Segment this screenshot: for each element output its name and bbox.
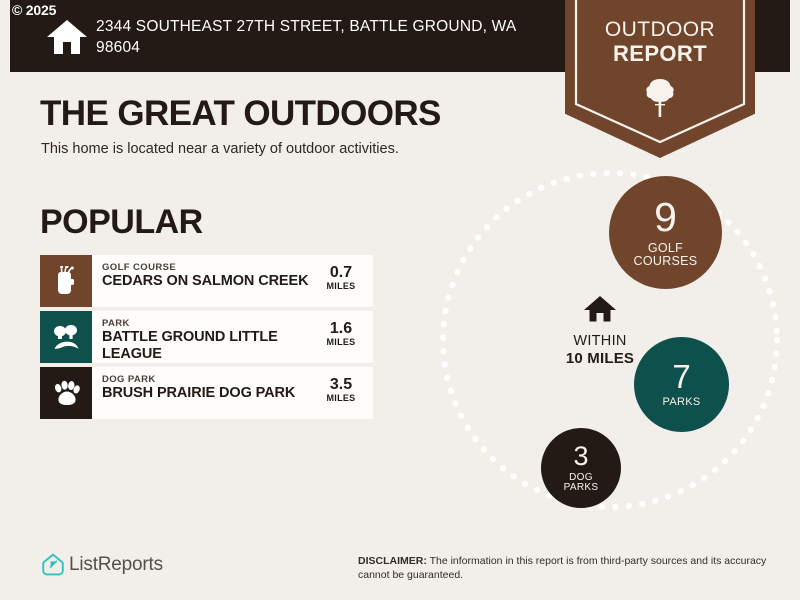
list-item-distance-value: 0.7 [315,264,367,281]
diagram-center-line2: 10 MILES [530,350,670,368]
badge-title-line1: OUTDOOR [565,18,755,42]
list-item-distance-unit: MILES [315,281,367,291]
house-icon [46,18,88,56]
popular-list: GOLF COURSE CEDARS ON SALMON CREEK 0.7 M… [40,255,373,423]
house-icon [530,295,670,328]
list-item-distance-unit: MILES [315,337,367,347]
page-subtitle: This home is located near a variety of o… [41,141,399,157]
paw-print-icon [40,367,92,419]
stat-golf-label-line2: COURSES [634,255,698,268]
stat-dog-value: 3 [573,443,588,470]
listreports-logo-text: ListReports [69,554,163,576]
list-item-distance-value: 1.6 [315,320,367,337]
list-item-category: PARK [102,318,311,329]
tree-icon [645,78,675,118]
list-item-name: BRUSH PRAIRIE DOG PARK [102,385,311,402]
stat-dog-label-line2: PARKS [564,483,599,494]
list-item-name: CEDARS ON SALMON CREEK [102,273,311,290]
property-address: 2344 SOUTHEAST 27TH STREET, BATTLE GROUN… [96,16,546,58]
listreports-logo[interactable]: ListReports [42,553,163,576]
copyright-label: © 2025 [12,2,56,18]
list-item-distance: 0.7 MILES [315,255,373,291]
disclaimer: DISCLAIMER: The information in this repo… [358,554,778,582]
diagram-center-line1: WITHIN [530,333,670,350]
diagram-center: WITHIN 10 MILES [530,295,670,368]
outdoor-report-page: 2344 SOUTHEAST 27TH STREET, BATTLE GROUN… [0,0,800,600]
list-item[interactable]: DOG PARK BRUSH PRAIRIE DOG PARK 3.5 MILE… [40,367,373,419]
badge-title: OUTDOOR REPORT [565,18,755,66]
list-item[interactable]: GOLF COURSE CEDARS ON SALMON CREEK 0.7 M… [40,255,373,307]
section-title-popular: POPULAR [40,203,203,242]
list-item[interactable]: PARK BATTLE GROUND LITTLE LEAGUE 1.6 MIL… [40,311,373,363]
list-item-body: PARK BATTLE GROUND LITTLE LEAGUE [92,311,315,363]
list-item-distance: 1.6 MILES [315,311,373,347]
listreports-leaf-house-icon [42,553,69,576]
golf-bag-icon [40,255,92,307]
stat-parks-value: 7 [672,360,690,393]
list-item-distance: 3.5 MILES [315,367,373,403]
badge-title-line2: REPORT [565,42,755,66]
disclaimer-label: DISCLAIMER: [358,555,427,567]
stat-golf-value: 9 [654,197,677,238]
list-item-body: DOG PARK BRUSH PRAIRIE DOG PARK [92,367,315,402]
stat-golf-courses[interactable]: 9 GOLF COURSES [609,176,722,289]
list-item-distance-value: 3.5 [315,376,367,393]
page-title: THE GREAT OUTDOORS [40,94,441,134]
list-item-body: GOLF COURSE CEDARS ON SALMON CREEK [92,255,315,290]
stat-dog-parks[interactable]: 3 DOG PARKS [541,428,621,508]
within-10-miles-diagram: 9 GOLF COURSES 7 PARKS 3 DOG PARKS WITHI… [430,165,790,525]
list-item-category: GOLF COURSE [102,262,311,273]
stat-parks-label-line1: PARKS [663,397,701,409]
list-item-distance-unit: MILES [315,393,367,403]
park-tree-icon [40,311,92,363]
list-item-category: DOG PARK [102,374,311,385]
list-item-name: BATTLE GROUND LITTLE LEAGUE [102,329,311,363]
